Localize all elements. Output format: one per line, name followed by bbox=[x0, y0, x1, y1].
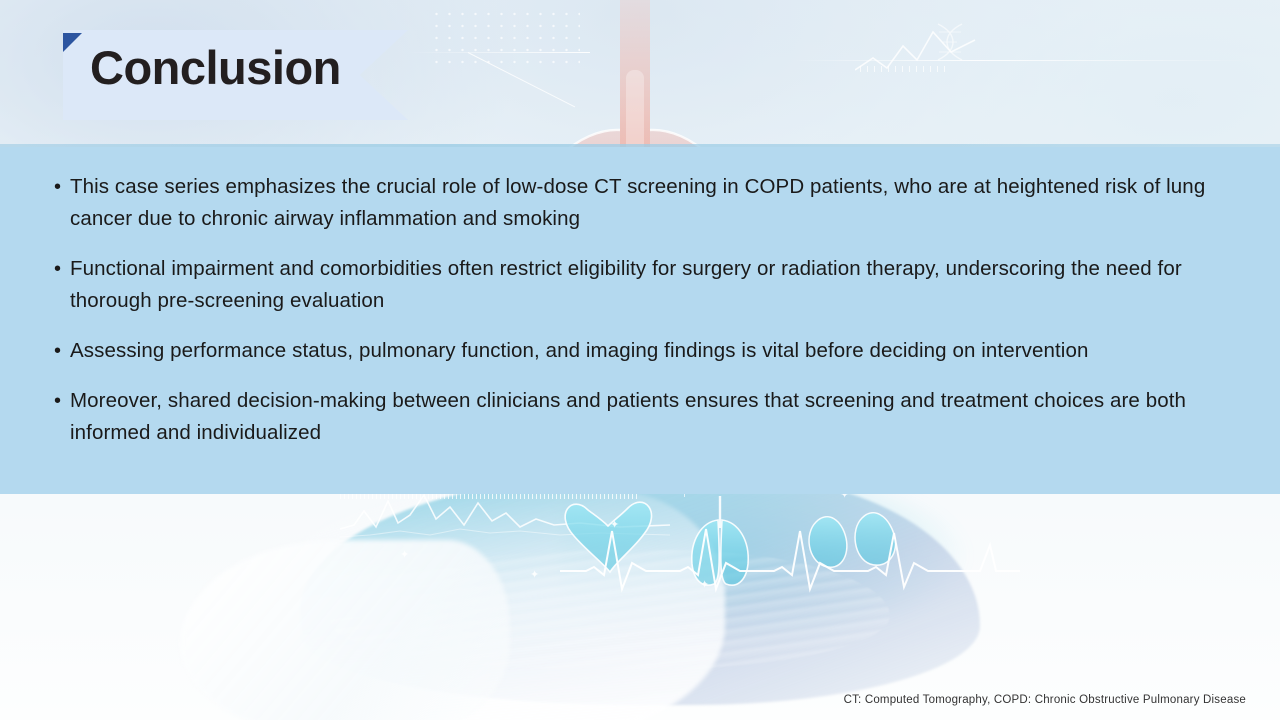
bullet-text: Assessing performance status, pulmonary … bbox=[70, 335, 1244, 367]
dna-helix-icon bbox=[930, 20, 970, 80]
abbreviation-footnote: CT: Computed Tomography, COPD: Chronic O… bbox=[844, 694, 1246, 706]
lab-coat-cuff bbox=[180, 540, 510, 720]
list-item: • Assessing performance status, pulmonar… bbox=[54, 335, 1244, 367]
bullet-marker-icon: • bbox=[54, 171, 70, 235]
list-item: • This case series emphasizes the crucia… bbox=[54, 171, 1244, 235]
banner-corner-triangle-icon bbox=[63, 33, 82, 52]
slide-canvas: ✦ ✦ ✦ ✦ ✦ ✦ Conclusion • This case serie… bbox=[0, 0, 1280, 720]
bullet-marker-icon: • bbox=[54, 385, 70, 449]
bullet-text: This case series emphasizes the crucial … bbox=[70, 171, 1244, 235]
sparkle-icon: ✦ bbox=[610, 520, 619, 531]
bullet-text: Functional impairment and comorbidities … bbox=[70, 253, 1244, 317]
bullet-marker-icon: • bbox=[54, 253, 70, 317]
bullet-marker-icon: • bbox=[54, 335, 70, 367]
bullet-list: • This case series emphasizes the crucia… bbox=[54, 171, 1244, 449]
bullet-text: Moreover, shared decision-making between… bbox=[70, 385, 1244, 449]
page-title: Conclusion bbox=[90, 40, 341, 95]
sparkle-icon: ✦ bbox=[530, 570, 539, 581]
sparkle-icon: ✦ bbox=[400, 550, 409, 561]
list-item: • Functional impairment and comorbiditie… bbox=[54, 253, 1244, 317]
sparkle-icon: ✦ bbox=[700, 580, 709, 591]
content-panel: • This case series emphasizes the crucia… bbox=[0, 147, 1280, 494]
list-item: • Moreover, shared decision-making betwe… bbox=[54, 385, 1244, 449]
ecg-waveform-icon bbox=[560, 525, 1020, 595]
